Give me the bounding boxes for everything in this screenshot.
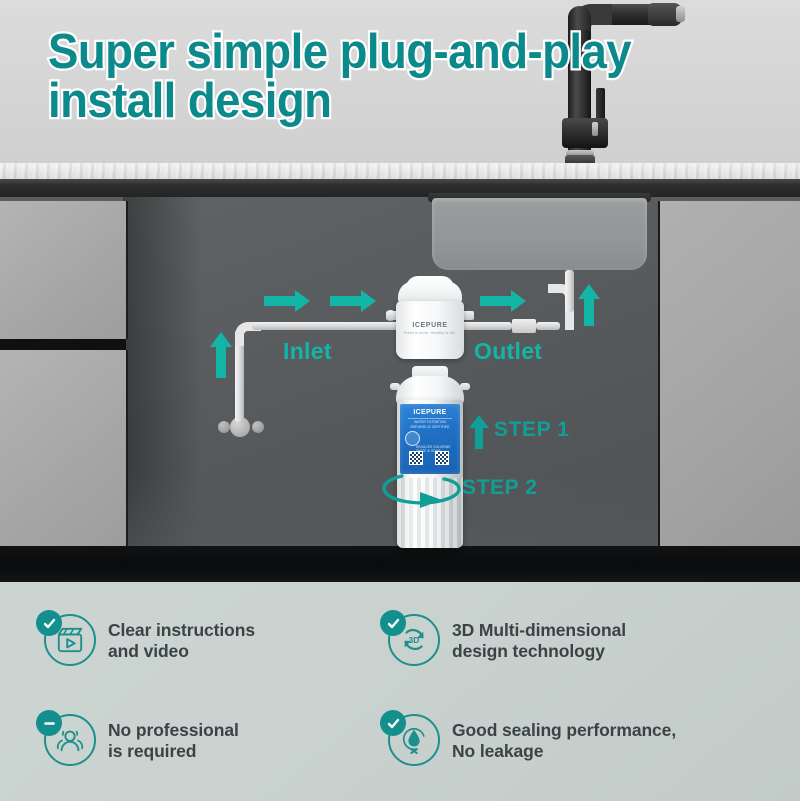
step1-label: STEP 1 (494, 418, 570, 442)
3d-rotation-icon: 3D (380, 610, 442, 672)
feature-label: No professional is required (108, 720, 239, 762)
cartridge-qr-code-1 (409, 451, 423, 465)
cabinet-door-right (658, 201, 800, 548)
cartridge-label-line-b: NSF/ANSI 42 CERTIFIED (400, 425, 460, 429)
headline-line-1-stroke: Super simple plug-and-play (48, 28, 699, 77)
video-clapperboard-icon (36, 610, 98, 672)
outlet-quick-connector (512, 319, 536, 333)
sink-basin (432, 198, 647, 270)
check-icon (386, 716, 401, 731)
outlet-riser-arrow-icon (576, 282, 602, 328)
feature-panel: Clear instructions and video (0, 582, 800, 801)
water-drop-no-leak-glyph (400, 726, 428, 754)
people-glyph (56, 726, 84, 754)
cartridge-label: ICEPURE WATER FILTRATION NSF/ANSI 42 CER… (400, 404, 460, 474)
cabinet-drawer-bottom (0, 350, 128, 548)
headline: Super simple plug-and-play install desig… (48, 28, 748, 125)
check-icon (386, 616, 401, 631)
outlet-arrow-1-icon (478, 288, 528, 314)
cartridge-label-line-a: WATER FILTRATION (400, 420, 460, 424)
no-leak-drop-icon (380, 710, 442, 772)
cabinet-kickplate (0, 546, 800, 582)
outlet-tube-1 (460, 322, 512, 330)
shutoff-valve-knob-left (218, 421, 230, 433)
clapperboard-glyph (56, 626, 84, 654)
minus-badge (36, 710, 62, 736)
check-badge (380, 610, 406, 636)
drawer-gap (0, 339, 126, 350)
inlet-arrow-2-icon (328, 288, 378, 314)
faucet-aerator (676, 6, 685, 22)
cartridge-qr-code-2 (435, 451, 449, 465)
shutoff-valve-knob-right (252, 421, 264, 433)
feature-label: Clear instructions and video (108, 620, 255, 662)
outlet-label: Outlet (474, 338, 542, 365)
step2-rotate-icon (378, 468, 474, 510)
feature-label: 3D Multi-dimensional design technology (452, 620, 626, 662)
inlet-riser-arrow-icon (208, 330, 234, 380)
outlet-riser-tube (565, 270, 574, 312)
svg-text:3D: 3D (409, 635, 420, 645)
cabinet-drawer-top (0, 201, 128, 339)
countertop-edge (0, 179, 800, 197)
filter-head-brand: ICEPURE (396, 322, 464, 329)
filter-head-body (396, 301, 464, 359)
inlet-arrow-1-icon (262, 288, 312, 314)
product-feature-image: ICEPURE Fresh is more. Healthy is life. … (0, 0, 800, 801)
feature-clear-instructions: Clear instructions and video (36, 610, 255, 672)
feature-3d-design: 3D 3D Multi-dimensional design technolog… (380, 610, 626, 672)
feature-good-sealing: Good sealing performance, No leakage (380, 710, 676, 772)
minus-icon (42, 716, 57, 731)
feature-label: Good sealing performance, No leakage (452, 720, 676, 762)
check-badge (380, 710, 406, 736)
feature-no-professional: No professional is required (36, 710, 239, 772)
step2-label: STEP 2 (462, 476, 538, 500)
inlet-tube-horizontal (252, 322, 400, 330)
cartridge-label-brand: ICEPURE (400, 409, 460, 416)
step1-arrow-up-icon (468, 414, 490, 450)
check-icon (42, 616, 57, 631)
people-group-icon (36, 710, 98, 772)
check-badge (36, 610, 62, 636)
cartridge-label-rule (408, 418, 452, 419)
headline-line-2-stroke: install design (48, 77, 699, 126)
inlet-label: Inlet (283, 338, 332, 365)
cartridge-nsf-seal (405, 431, 420, 446)
filter-head-tagline: Fresh is more. Healthy is life. (396, 331, 464, 335)
rotation-3d-glyph: 3D (400, 626, 428, 654)
